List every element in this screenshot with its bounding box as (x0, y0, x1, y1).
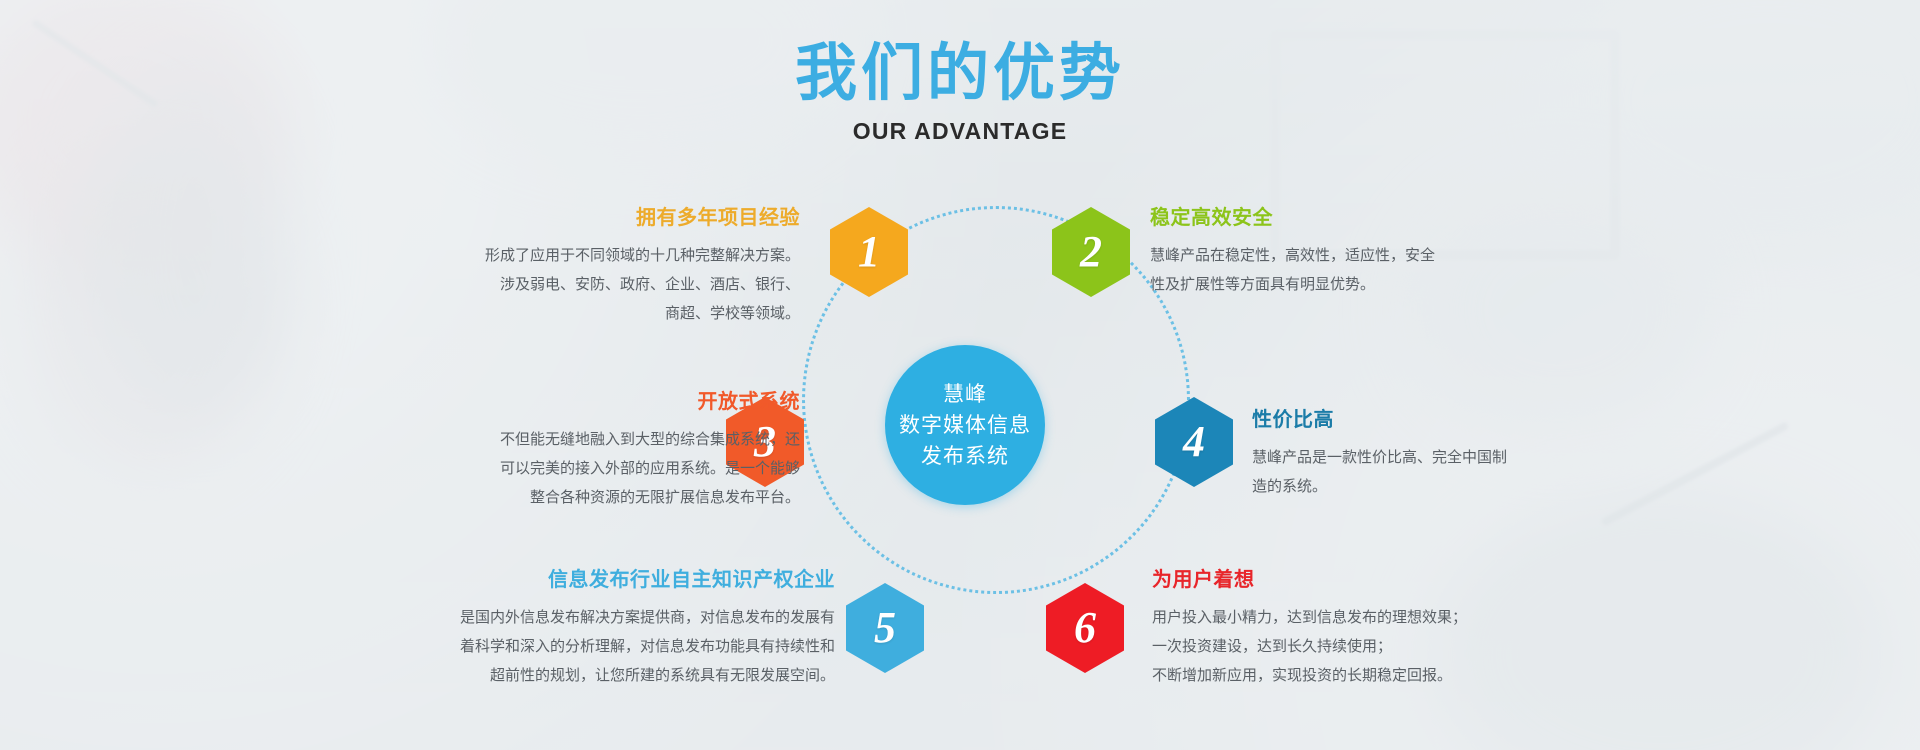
advantage-block-1: 拥有多年项目经验 形成了应用于不同领域的十几种完整解决方案。涉及弱电、安防、政府… (360, 206, 800, 328)
center-line-3: 发布系统 (921, 441, 1009, 472)
center-line-2: 数字媒体信息 (899, 410, 1031, 441)
advantage-block-4: 性价比高 慧峰产品是一款性价比高、完全中国制造的系统。 (1252, 408, 1592, 501)
hexagon-badge-6[interactable]: 6 (1046, 583, 1124, 673)
center-circle: 慧峰 数字媒体信息 发布系统 (885, 345, 1045, 505)
advantage-body-6: 用户投入最小精力，达到信息发布的理想效果；一次投资建设，达到长久持续使用；不断增… (1152, 603, 1572, 690)
advantage-body-5: 是国内外信息发布解决方案提供商，对信息发布的发展有着科学和深入的分析理解，对信息… (380, 603, 835, 690)
advantage-body-1: 形成了应用于不同领域的十几种完整解决方案。涉及弱电、安防、政府、企业、酒店、银行… (360, 241, 800, 328)
advantage-block-5: 信息发布行业自主知识产权企业 是国内外信息发布解决方案提供商，对信息发布的发展有… (380, 568, 835, 690)
advantage-heading-5: 信息发布行业自主知识产权企业 (380, 568, 835, 592)
advantage-body-2: 慧峰产品在稳定性，高效性，适应性，安全性及扩展性等方面具有明显优势。 (1150, 241, 1570, 299)
advantage-block-6: 为用户着想 用户投入最小精力，达到信息发布的理想效果；一次投资建设，达到长久持续… (1152, 568, 1572, 690)
hexagon-badge-5[interactable]: 5 (846, 583, 924, 673)
advantage-body-4: 慧峰产品是一款性价比高、完全中国制造的系统。 (1252, 443, 1592, 501)
page-subtitle: OUR ADVANTAGE (0, 118, 1920, 145)
advantage-heading-3: 开放式系统 (330, 390, 800, 414)
page-title: 我们的优势 (0, 42, 1920, 104)
advantage-heading-6: 为用户着想 (1152, 568, 1572, 592)
hexagon-number-1: 1 (858, 230, 880, 274)
hexagon-number-5: 5 (874, 606, 896, 650)
advantage-body-3: 不但能无缝地融入到大型的综合集成系统，还可以完美的接入外部的应用系统。是一个能够… (330, 425, 800, 512)
hexagon-number-2: 2 (1080, 230, 1102, 274)
advantage-heading-4: 性价比高 (1252, 408, 1592, 432)
center-line-1: 慧峰 (943, 379, 987, 410)
hexagon-number-6: 6 (1074, 606, 1096, 650)
advantage-heading-1: 拥有多年项目经验 (360, 206, 800, 230)
advantage-block-2: 稳定高效安全 慧峰产品在稳定性，高效性，适应性，安全性及扩展性等方面具有明显优势… (1150, 206, 1570, 299)
advantage-heading-2: 稳定高效安全 (1150, 206, 1570, 230)
hexagon-number-4: 4 (1183, 420, 1205, 464)
page-header: 我们的优势 OUR ADVANTAGE (0, 42, 1920, 145)
advantage-block-3: 开放式系统 不但能无缝地融入到大型的综合集成系统，还可以完美的接入外部的应用系统… (330, 390, 800, 512)
